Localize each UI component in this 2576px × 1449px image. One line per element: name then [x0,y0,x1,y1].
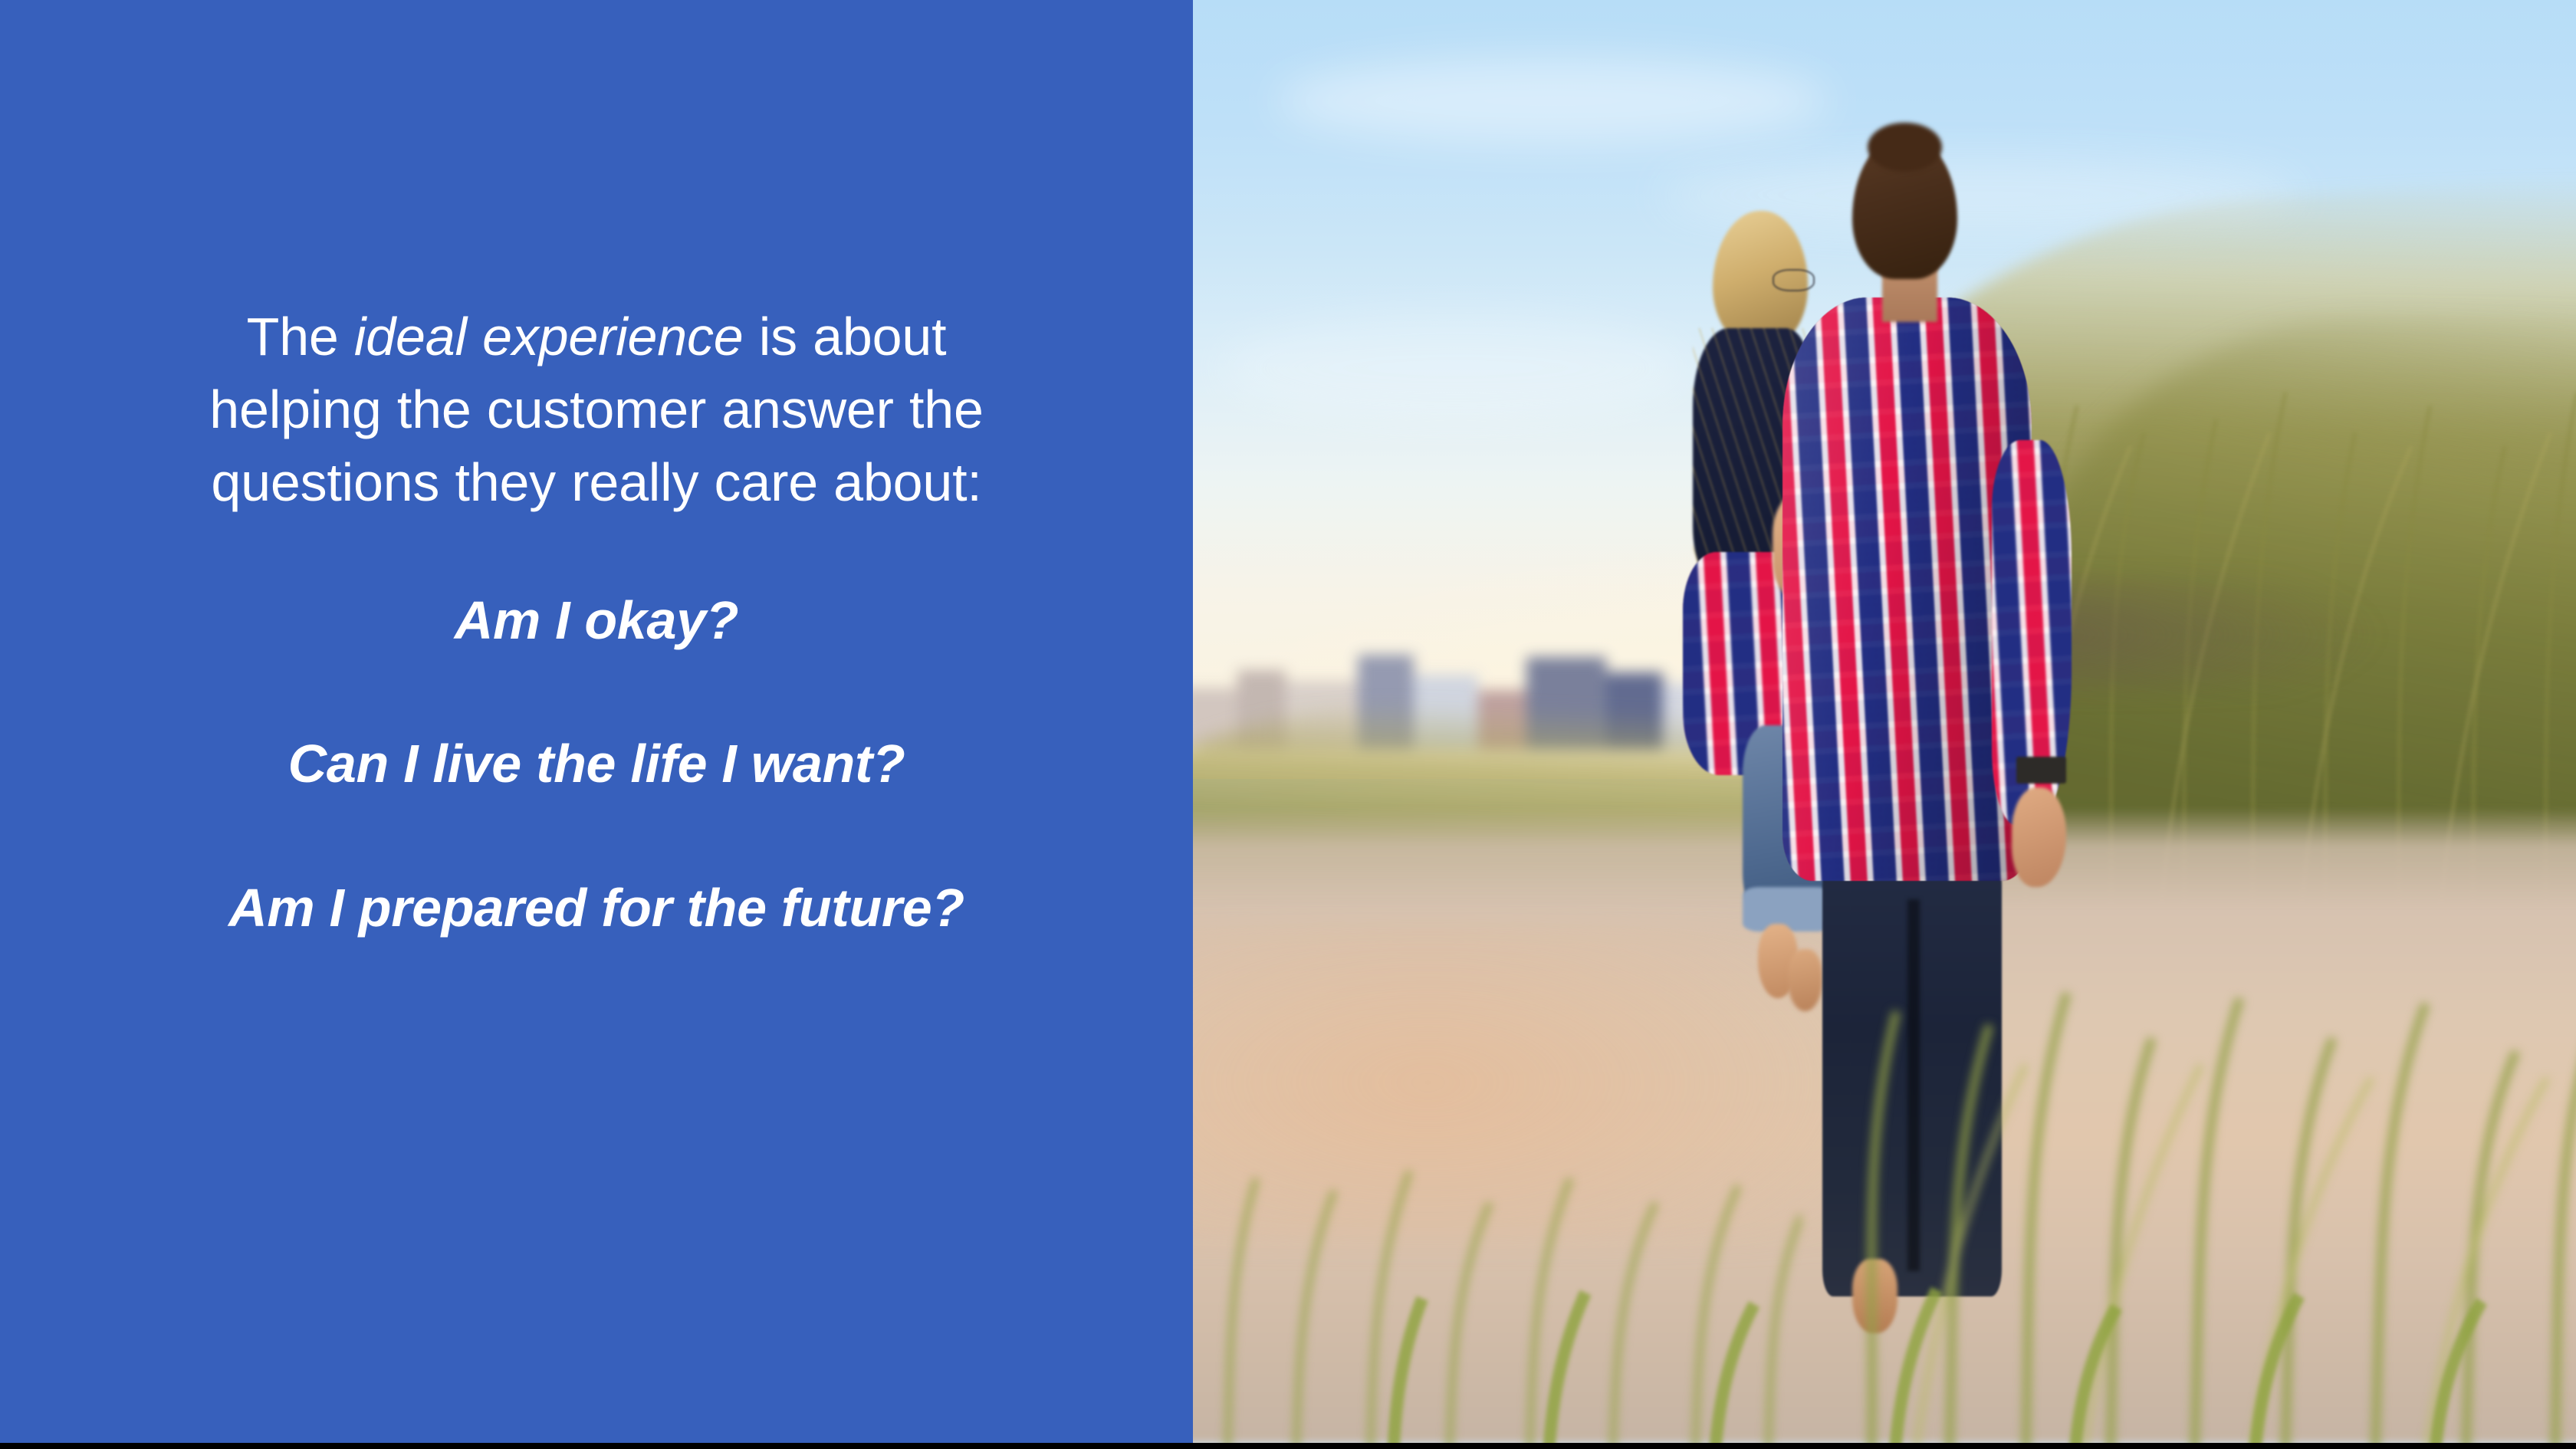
bottom-black-border [0,1443,2576,1449]
slide-canvas: The ideal experience is about helping th… [0,0,2576,1449]
intro-paragraph: The ideal experience is about helping th… [190,301,1003,519]
wristwatch [2016,757,2066,784]
left-text-panel: The ideal experience is about helping th… [0,0,1193,1443]
intro-before-emphasis: The [247,307,354,366]
cloud-wisp-3 [1221,317,1691,419]
man-hair [1868,123,1942,172]
intro-emphasis: ideal experience [354,307,744,366]
child-foot-right [1788,949,1822,1011]
child-glasses [1773,269,1815,291]
text-block: The ideal experience is about helping th… [0,0,1193,1443]
question-3: Am I prepared for the future? [190,872,1003,945]
photo-man-carrying-child [1193,0,2576,1443]
question-1: Am I okay? [190,584,1003,657]
child-jeans-cuff [1743,887,1832,932]
question-2: Can I live the life I want? [190,728,1003,800]
foreground-grass-bottom-blades [1331,1270,2576,1443]
